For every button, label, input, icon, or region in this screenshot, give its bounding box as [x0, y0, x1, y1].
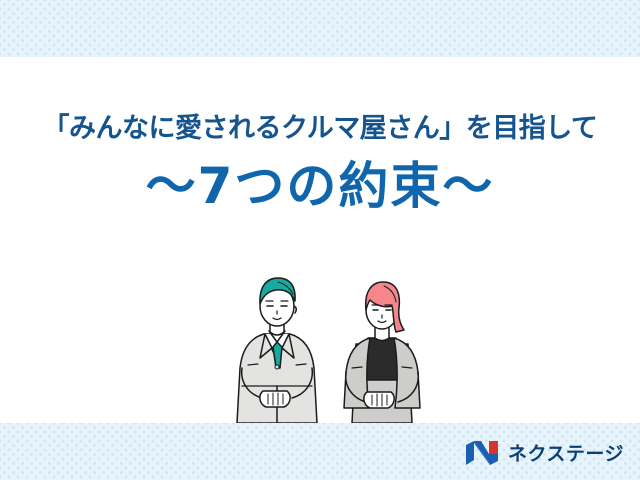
brand-name-text: ネクステージ — [508, 439, 624, 466]
brand-logo: ネクステージ — [465, 439, 624, 466]
headline-line-2: ～7つの約束～ — [0, 158, 640, 216]
staff-illustration-svg — [232, 268, 432, 423]
male-staff-figure — [237, 278, 317, 423]
female-staff-figure — [344, 282, 420, 423]
staff-illustration — [232, 268, 432, 423]
headline-line-1: 「みんなに愛されるクルマ屋さん」を目指して — [0, 112, 640, 146]
promo-banner: 「みんなに愛されるクルマ屋さん」を目指して ～7つの約束～ — [0, 0, 640, 480]
nextage-n-mark-icon — [465, 440, 501, 466]
headline-block: 「みんなに愛されるクルマ屋さん」を目指して ～7つの約束～ — [0, 112, 640, 215]
